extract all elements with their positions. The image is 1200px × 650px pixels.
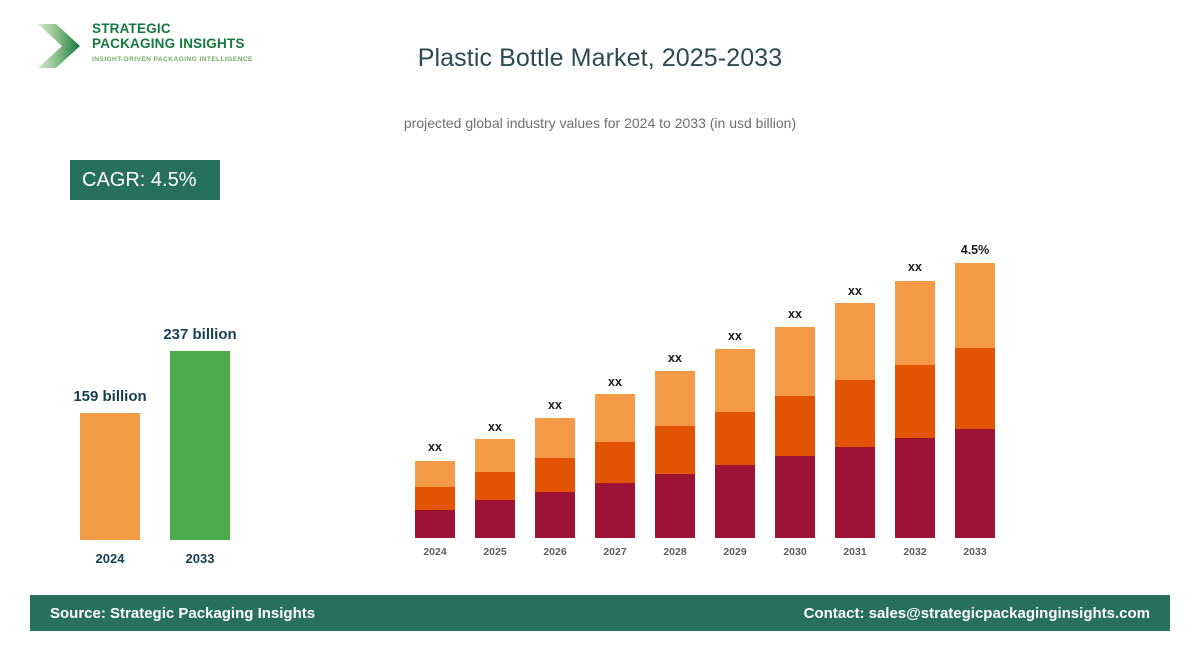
brand-name-line-1: STRATEGIC bbox=[92, 21, 253, 36]
comparison-chart: 159 billion2024237 billion2033 bbox=[50, 300, 280, 570]
stacked-x-label: 2027 bbox=[595, 546, 635, 558]
stacked-bar bbox=[655, 371, 695, 538]
stacked-bar-segment bbox=[895, 281, 935, 365]
stacked-bar-segment bbox=[535, 458, 575, 492]
brand-tagline: INSIGHT-DRIVEN PACKAGING INTELLIGENCE bbox=[92, 55, 253, 64]
stacked-forecast-chart: xx2024xx2025xx2026xx2027xx2028xx2029xx20… bbox=[405, 200, 1025, 560]
stacked-bar-segment bbox=[655, 474, 695, 538]
stacked-bar-segment bbox=[715, 465, 755, 538]
stacked-bar-segment bbox=[415, 461, 455, 487]
stacked-bar-top-label: xx bbox=[705, 329, 765, 343]
stacked-bar-segment bbox=[955, 429, 995, 538]
footer-source: Source: Strategic Packaging Insights bbox=[50, 605, 315, 622]
footer-contact: Contact: sales@strategicpackaginginsight… bbox=[804, 605, 1150, 622]
stacked-x-label: 2031 bbox=[835, 546, 875, 558]
brand-name-line-2: PACKAGING INSIGHTS bbox=[92, 36, 253, 51]
comparison-value-label: 237 billion bbox=[130, 326, 270, 343]
stacked-x-label: 2028 bbox=[655, 546, 695, 558]
stacked-bar-segment bbox=[835, 303, 875, 380]
stacked-x-label: 2032 bbox=[895, 546, 935, 558]
cagr-badge-label: CAGR: 4.5% bbox=[82, 169, 196, 192]
stacked-bar-segment bbox=[895, 365, 935, 438]
stacked-bar-segment bbox=[535, 418, 575, 458]
page-subtitle: projected global industry values for 202… bbox=[300, 115, 900, 131]
stacked-bar-segment bbox=[955, 263, 995, 348]
stacked-bar-segment bbox=[415, 510, 455, 538]
stacked-bar-segment bbox=[595, 442, 635, 483]
page-title: Plastic Bottle Market, 2025-2033 bbox=[300, 44, 900, 73]
stacked-bar-top-label: xx bbox=[765, 307, 825, 321]
stacked-bar-segment bbox=[955, 348, 995, 429]
stacked-bar bbox=[415, 461, 455, 538]
stacked-x-label: 2025 bbox=[475, 546, 515, 558]
stacked-bar-segment bbox=[835, 447, 875, 538]
stacked-bar-top-label: xx bbox=[405, 440, 465, 454]
brand-logo: STRATEGIC PACKAGING INSIGHTS INSIGHT-DRI… bbox=[30, 16, 290, 78]
stacked-x-label: 2029 bbox=[715, 546, 755, 558]
comparison-bar bbox=[170, 351, 230, 540]
stacked-bar bbox=[955, 263, 995, 538]
stacked-bar bbox=[595, 394, 635, 538]
footer-bar: Source: Strategic Packaging Insights Con… bbox=[30, 595, 1170, 631]
stacked-bar-top-label: xx bbox=[465, 420, 525, 434]
stacked-bar-segment bbox=[475, 439, 515, 472]
stacked-x-label: 2024 bbox=[415, 546, 455, 558]
stacked-bar-segment bbox=[475, 472, 515, 500]
chevron-arrow-icon bbox=[34, 20, 84, 72]
stacked-bar-segment bbox=[775, 327, 815, 396]
comparison-x-label: 2033 bbox=[170, 551, 230, 566]
stacked-bar bbox=[895, 281, 935, 538]
comparison-bar bbox=[80, 413, 140, 540]
brand-wordmark: STRATEGIC PACKAGING INSIGHTS INSIGHT-DRI… bbox=[92, 21, 253, 64]
stacked-bar-segment bbox=[595, 394, 635, 442]
stacked-bar-segment bbox=[415, 487, 455, 510]
stacked-bar bbox=[835, 303, 875, 538]
stacked-bar-segment bbox=[475, 500, 515, 538]
stacked-bar bbox=[535, 418, 575, 538]
stacked-bar-segment bbox=[595, 483, 635, 538]
stacked-bar-segment bbox=[775, 396, 815, 456]
stacked-bar bbox=[475, 439, 515, 538]
stacked-bar-segment bbox=[535, 492, 575, 538]
stacked-bar-segment bbox=[775, 456, 815, 538]
stacked-bar-top-label: xx bbox=[825, 284, 885, 298]
stacked-bar-segment bbox=[715, 349, 755, 412]
stacked-bar-segment bbox=[715, 412, 755, 465]
cagr-badge: CAGR: 4.5% bbox=[70, 160, 220, 200]
stacked-x-label: 2030 bbox=[775, 546, 815, 558]
comparison-value-label: 159 billion bbox=[40, 388, 180, 405]
stacked-x-label: 2033 bbox=[955, 546, 995, 558]
stacked-x-label: 2026 bbox=[535, 546, 575, 558]
stacked-bar-segment bbox=[655, 371, 695, 426]
stacked-bar-top-label: 4.5% bbox=[945, 243, 1005, 257]
comparison-x-label: 2024 bbox=[80, 551, 140, 566]
stacked-bar-top-label: xx bbox=[525, 398, 585, 412]
stacked-bar bbox=[775, 327, 815, 538]
stacked-bar bbox=[715, 349, 755, 538]
stacked-bar-segment bbox=[655, 426, 695, 474]
stacked-bar-segment bbox=[835, 380, 875, 447]
stacked-bar-top-label: xx bbox=[885, 260, 945, 274]
stacked-bar-segment bbox=[895, 438, 935, 538]
stacked-bar-top-label: xx bbox=[645, 351, 705, 365]
stacked-bar-top-label: xx bbox=[585, 375, 645, 389]
